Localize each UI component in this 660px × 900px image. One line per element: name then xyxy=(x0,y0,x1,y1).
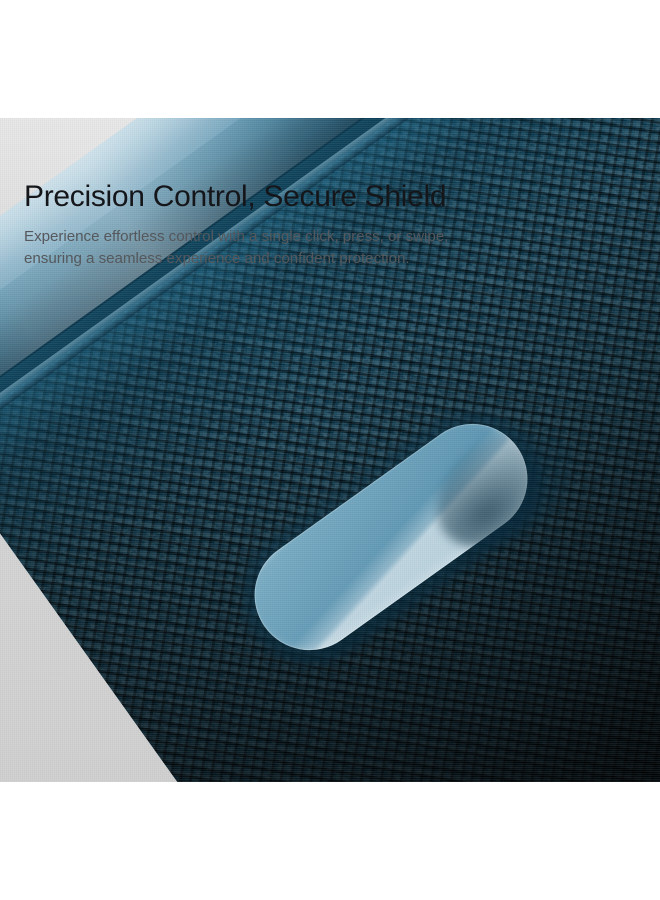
feature-text-block: Precision Control, Secure Shield Experie… xyxy=(24,178,624,269)
page-subtitle: Experience effortless control with a sin… xyxy=(24,226,584,269)
page-title: Precision Control, Secure Shield xyxy=(24,178,624,216)
product-feature-card: Precision Control, Secure Shield Experie… xyxy=(0,0,660,900)
page-subtitle-line-1: Experience effortless control with a sin… xyxy=(24,226,584,248)
page-subtitle-line-2: ensuring a seamless experience and confi… xyxy=(24,248,584,270)
